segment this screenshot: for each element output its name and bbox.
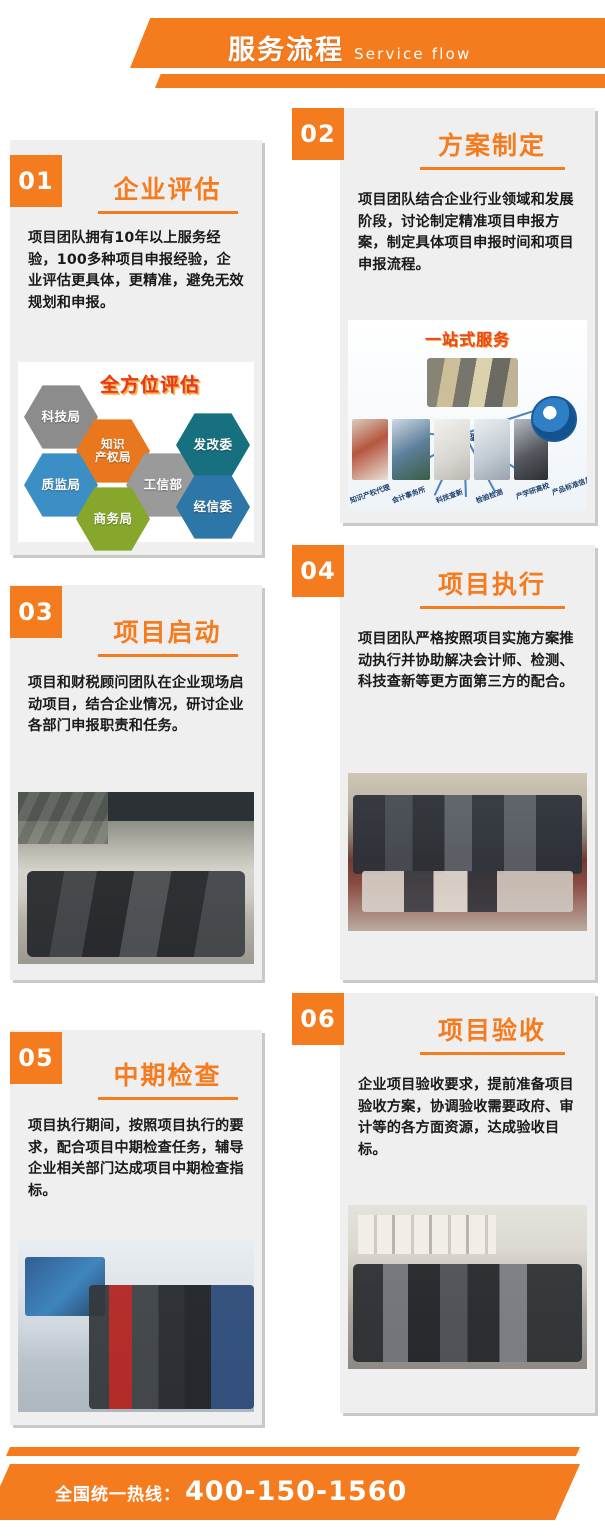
step-number-badge-02: 02 xyxy=(292,108,344,160)
step-title-rule-05 xyxy=(98,1097,238,1100)
assessment-hex-diagram: 全方位评估 科技局 知识 产权局 质监局 工信部 商务局 发改委 经信委 xyxy=(18,362,254,542)
site-visit-photo xyxy=(18,1240,254,1412)
step-number-badge-06: 06 xyxy=(292,993,344,1045)
page-title-cn: 服务流程 xyxy=(228,28,344,67)
step-title-05: 中期检查 xyxy=(80,1056,255,1092)
hex-diagram-title: 全方位评估 xyxy=(100,370,200,397)
footer-hotline-group: 全国统一热线： 400-150-1560 xyxy=(55,1476,407,1507)
step-body-03: 项目和财税顾问团队在企业现场启动项目，结合企业情况，研讨企业各部门申报职责和任务… xyxy=(28,673,246,738)
branch-thumb-3 xyxy=(434,419,470,480)
step-title-rule-02 xyxy=(420,167,565,170)
one-stop-service-center-photo xyxy=(427,358,518,407)
step-card-05: 中期检查 项目执行期间，按照项目执行的要求，配合项目中期检查任务，辅导企业相关部… xyxy=(10,1030,262,1425)
step-body-06: 企业项目验收要求，提前准备项目验收方案，协调验收需要政府、审计等的各方面资源，达… xyxy=(358,1075,578,1161)
step-number-badge-04: 04 xyxy=(292,545,344,597)
page-header: 服务流程 Service flow xyxy=(0,0,605,110)
step-number-badge-03: 03 xyxy=(10,586,62,638)
step-title-rule-03 xyxy=(98,654,238,657)
conference-photo xyxy=(348,1205,587,1369)
footer-hotline-label: 全国统一热线： xyxy=(55,1480,181,1505)
step-number-badge-01: 01 xyxy=(10,155,62,207)
header-banner-underline-shape xyxy=(155,74,605,88)
step-title-02: 方案制定 xyxy=(402,126,582,162)
step-card-06: 项目验收 企业项目验收要求，提前准备项目验收方案，协调验收需要政府、审计等的各方… xyxy=(340,993,595,1413)
branch-thumb-4 xyxy=(474,419,510,480)
meeting-room-photo xyxy=(18,792,254,964)
step-card-04: 项目执行 项目团队严格按照项目实施方案推动执行并协助解决会计师、检测、科技查新等… xyxy=(340,545,595,980)
branch-thumb-2 xyxy=(392,419,430,480)
footer-hotline-number[interactable]: 400-150-1560 xyxy=(185,1476,407,1507)
step-title-rule-06 xyxy=(420,1052,565,1055)
step-card-03: 项目启动 项目和财税顾问团队在企业现场启动项目，结合企业情况，研讨企业各部门申报… xyxy=(10,585,262,980)
branch-label-2: 会计事务所 xyxy=(391,485,427,506)
branch-label-6: 产品标准信息 xyxy=(551,474,587,498)
branch-label-3: 科技查新 xyxy=(435,487,465,506)
step-card-02: 方案制定 项目团队结合企业行业领域和发展阶段，讨论制定精准项目申报方案，制定具体… xyxy=(340,108,595,523)
step-body-05: 项目执行期间，按照项目执行的要求，配合项目中期检查任务，辅导企业相关部门达成项目… xyxy=(28,1116,246,1202)
branch-thumb-1 xyxy=(352,419,388,480)
page-title-en: Service flow xyxy=(354,45,472,63)
step-title-06: 项目验收 xyxy=(402,1011,582,1047)
step-number-badge-05: 05 xyxy=(10,1032,62,1084)
branch-label-5: 产学研高校 xyxy=(515,481,551,502)
certification-seal-icon xyxy=(531,396,577,442)
step-title-rule-01 xyxy=(98,211,238,214)
step-body-01: 项目团队拥有10年以上服务经验，100多种项目申报经验，企业评估更具体，更精准，… xyxy=(28,228,244,314)
branch-label-4: 检验检测 xyxy=(475,487,505,506)
step-title-01: 企业评估 xyxy=(80,170,255,206)
step-body-04: 项目团队严格按照项目实施方案推动执行并协助解决会计师、检测、科技查新等更方面第三… xyxy=(358,629,578,694)
footer-stripe-shape xyxy=(6,1447,580,1456)
one-stop-service-title: 一站式服务 xyxy=(348,326,587,350)
step-title-rule-04 xyxy=(420,606,565,609)
step-body-02: 项目团队结合企业行业领域和发展阶段，讨论制定精准项目申报方案，制定具体项目申报时… xyxy=(358,190,578,276)
working-session-photo xyxy=(348,773,587,931)
branch-label-1: 知识产权代理 xyxy=(349,482,392,506)
step-title-04: 项目执行 xyxy=(402,565,582,601)
header-title-group: 服务流程 Service flow xyxy=(228,28,472,67)
one-stop-service-diagram: 一站式服务 客户 项目经理 知识产权代理 会计事务所 科技查新 检验检测 产学研… xyxy=(348,320,587,510)
step-title-03: 项目启动 xyxy=(80,613,255,649)
